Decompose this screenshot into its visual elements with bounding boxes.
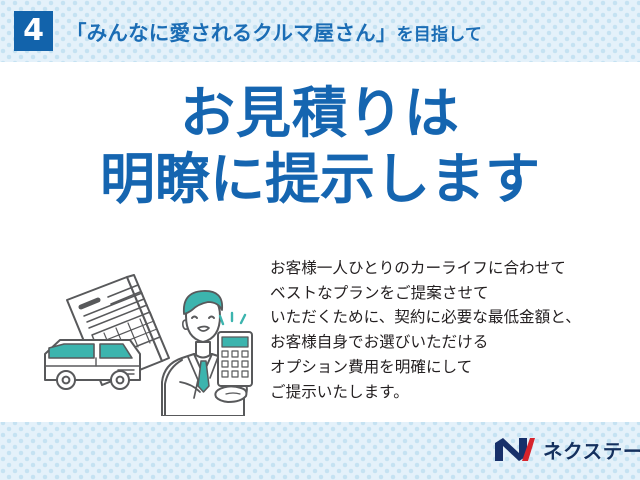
headline: お見積りは 明瞭に提示します — [0, 80, 640, 212]
calculator-icon — [218, 332, 252, 386]
brand-name: ネクステージ — [543, 435, 640, 464]
body-copy: お客様一人ひとりのカーライフに合わせて ベストなプランをご提案させて いただくた… — [270, 256, 630, 404]
headline-line-2: 明瞭に提示します — [0, 146, 640, 212]
body-copy-line: ご提示いたします。 — [270, 380, 630, 405]
section-header-title: 「みんなに愛されるクルマ屋さん」を目指して — [66, 16, 482, 46]
body-copy-line: ベストなプランをご提案させて — [270, 281, 630, 306]
section-header-title-tail: を目指して — [397, 25, 483, 44]
body-copy-line: お客様一人ひとりのカーライフに合わせて — [270, 256, 630, 281]
slide-root: 4 「みんなに愛されるクルマ屋さん」を目指して お見積りは 明瞭に提示します お… — [0, 0, 640, 480]
body-copy-line: お客様自身でお選びいただける — [270, 330, 630, 355]
illustration-salesperson-quote-van — [22, 258, 270, 416]
van-icon — [45, 340, 140, 389]
section-number-badge: 4 — [14, 11, 53, 51]
headline-line-1: お見積りは — [0, 80, 640, 146]
body-copy-line: オプション費用を明確にして — [270, 355, 630, 380]
section-header: 4 「みんなに愛されるクルマ屋さん」を目指して — [0, 0, 640, 62]
brand-logo: ネクステージ — [494, 434, 640, 464]
section-header-title-main: 「みんなに愛されるクルマ屋さん」 — [66, 22, 397, 45]
n-logo-icon — [494, 436, 536, 463]
sparkle-icon — [220, 313, 245, 324]
body-copy-line: いただくために、契約に必要な最低金額と、 — [270, 305, 630, 330]
